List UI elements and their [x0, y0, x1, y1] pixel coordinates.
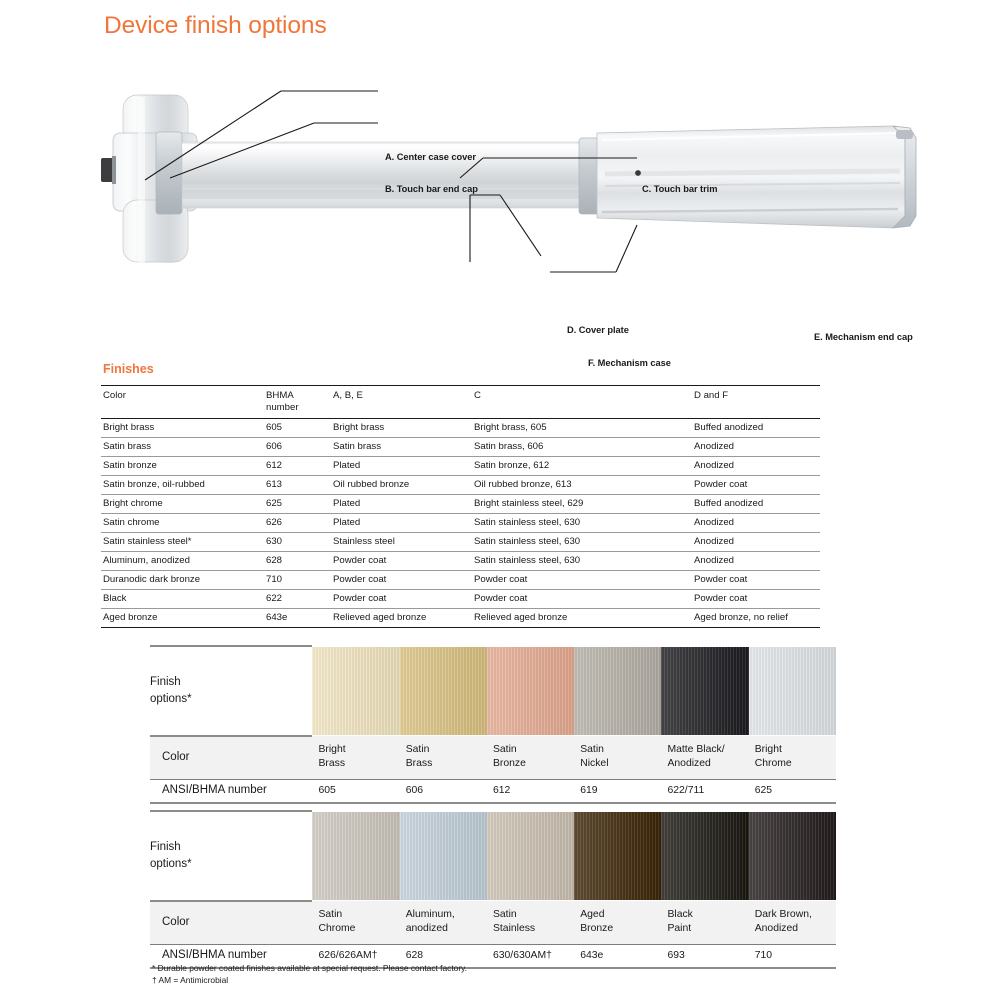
- swatch-color-name-line1: Bright: [755, 743, 834, 757]
- cell-c: Satin stainless steel, 630: [472, 513, 692, 532]
- cell-color: Satin bronze, oil-rubbed: [101, 475, 264, 494]
- table-row: Satin bronze 612 Plated Satin bronze, 61…: [101, 456, 820, 475]
- finish-options-label: Finish options*: [150, 646, 312, 736]
- swatch-chip: [312, 647, 399, 735]
- swatch-color-name-line1: Black: [667, 908, 746, 922]
- swatch-row: Finish options*: [150, 646, 836, 736]
- table-row: Duranodic dark bronze 710 Powder coat Po…: [101, 570, 820, 589]
- swatch-cell-aluminum-anodized: [400, 811, 487, 901]
- cell-bhma: 630: [264, 532, 331, 551]
- swatch-color-name: SatinNickel: [574, 736, 661, 779]
- cell-df: Powder coat: [692, 475, 820, 494]
- page-title: Device finish options: [104, 12, 327, 40]
- finish-options-line2: options*: [150, 858, 192, 870]
- swatch-color-name-line2: Bronze: [493, 757, 572, 771]
- cell-df: Anodized: [692, 532, 820, 551]
- cell-bhma: 628: [264, 551, 331, 570]
- swatch-cell-satin-stainless: [487, 811, 574, 901]
- swatch-chip: [400, 812, 487, 900]
- device-illustration: A. Center case cover B. Touch bar end ca…: [100, 70, 920, 315]
- cell-c: Powder coat: [472, 589, 692, 608]
- cell-color: Aged bronze: [101, 608, 264, 627]
- table-row: Bright brass 605 Bright brass Bright bra…: [101, 418, 820, 437]
- swatch-chip: [400, 647, 487, 735]
- finish-options-line1: Finish: [150, 676, 181, 688]
- document-page: Device finish options: [0, 0, 1000, 1000]
- cell-color: Satin chrome: [101, 513, 264, 532]
- swatch-chip: [574, 812, 661, 900]
- swatch-chip: [487, 812, 574, 900]
- swatch-color-name-line2: Brass: [406, 757, 485, 771]
- table-row: Satin stainless steel* 630 Stainless ste…: [101, 532, 820, 551]
- swatch-ansi-number: 619: [574, 779, 661, 803]
- swatch-color-name-line1: Satin: [580, 743, 659, 757]
- finish-options-label: Finish options*: [150, 811, 312, 901]
- swatch-ansi-row-label: ANSI/BHMA number: [150, 779, 312, 803]
- cell-abe: Relieved aged bronze: [331, 608, 472, 627]
- swatch-cell-satin-bronze: [487, 646, 574, 736]
- swatch-ansi-number: 710: [749, 944, 836, 968]
- cell-c: Satin bronze, 612: [472, 456, 692, 475]
- swatch-ansi-number: 612: [487, 779, 574, 803]
- cell-abe: Satin brass: [331, 437, 472, 456]
- finishes-col-bhma-line2: number: [266, 402, 299, 413]
- swatch-color-name-line2: Chrome: [755, 757, 834, 771]
- finishes-col-color: Color: [101, 386, 264, 419]
- cell-color: Satin bronze: [101, 456, 264, 475]
- swatch-chip: [749, 647, 836, 735]
- cover-plate-collar: [579, 138, 599, 214]
- cell-bhma: 605: [264, 418, 331, 437]
- swatch-cell-satin-chrome: [312, 811, 399, 901]
- swatch-color-name-line2: anodized: [406, 922, 485, 936]
- callout-label-e: E. Mechanism end cap: [814, 332, 913, 342]
- swatch-color-name-line2: Stainless: [493, 922, 572, 936]
- finishes-col-bhma-line1: BHMA: [266, 390, 294, 401]
- cell-bhma: 613: [264, 475, 331, 494]
- swatch-color-row: Color BrightBrass SatinBrass SatinBronze…: [150, 736, 836, 779]
- swatch-color-row-label: Color: [150, 901, 312, 944]
- finish-options-table-2: Finish options* Color SatinChrome Alumin…: [150, 810, 836, 969]
- finishes-col-df: D and F: [692, 386, 820, 419]
- swatch-color-name: SatinBrass: [400, 736, 487, 779]
- swatch-color-name-line1: Bright: [318, 743, 397, 757]
- finishes-heading: Finishes: [103, 362, 154, 376]
- swatch-ansi-number: 630/630AM†: [487, 944, 574, 968]
- touch-bar-end-cap-graphic: [156, 132, 182, 214]
- swatch-cell-aged-bronze: [574, 811, 661, 901]
- swatch-ansi-row: ANSI/BHMA number 605 606 612 619 622/711…: [150, 779, 836, 803]
- cell-c: Bright stainless steel, 629: [472, 494, 692, 513]
- swatch-ansi-number: 693: [661, 944, 748, 968]
- table-row: Aged bronze 643e Relieved aged bronze Re…: [101, 608, 820, 627]
- cell-abe: Powder coat: [331, 589, 472, 608]
- swatch-color-name: BrightChrome: [749, 736, 836, 779]
- swatch-color-name: AgedBronze: [574, 901, 661, 944]
- cell-bhma: 626: [264, 513, 331, 532]
- cell-df: Anodized: [692, 456, 820, 475]
- swatch-color-name-line1: Aluminum,: [406, 908, 485, 922]
- cell-color: Bright chrome: [101, 494, 264, 513]
- cell-color: Satin brass: [101, 437, 264, 456]
- swatch-chip: [574, 647, 661, 735]
- swatch-ansi-number: 606: [400, 779, 487, 803]
- callout-label-b: B. Touch bar end cap: [385, 184, 478, 194]
- finishes-col-abe: A, B, E: [331, 386, 472, 419]
- exit-device-drawing: [100, 70, 920, 315]
- cell-df: Aged bronze, no relief: [692, 608, 820, 627]
- swatch-color-name-line1: Satin: [493, 743, 572, 757]
- swatch-ansi-number: 625: [749, 779, 836, 803]
- cell-bhma: 625: [264, 494, 331, 513]
- cell-c: Relieved aged bronze: [472, 608, 692, 627]
- cell-df: Buffed anodized: [692, 418, 820, 437]
- cell-abe: Powder coat: [331, 551, 472, 570]
- cell-c: Satin brass, 606: [472, 437, 692, 456]
- swatch-color-name-line1: Dark Brown,: [755, 908, 834, 922]
- swatch-ansi-number: 622/711: [661, 779, 748, 803]
- cell-color: Bright brass: [101, 418, 264, 437]
- finishes-col-c: C: [472, 386, 692, 419]
- cell-df: Buffed anodized: [692, 494, 820, 513]
- cell-df: Anodized: [692, 551, 820, 570]
- footnote-2: † AM = Antimicrobial: [152, 975, 467, 987]
- swatch-ansi-number: 605: [312, 779, 399, 803]
- cell-color: Black: [101, 589, 264, 608]
- finishes-table-body: Bright brass 605 Bright brass Bright bra…: [101, 418, 820, 627]
- finishes-header-row: Color BHMA number A, B, E C D and F: [101, 386, 820, 419]
- swatch-cell-dark-brown-anodized: [749, 811, 836, 901]
- swatch-ansi-number: 643e: [574, 944, 661, 968]
- cell-abe: Plated: [331, 513, 472, 532]
- finishes-table: Color BHMA number A, B, E C D and F Brig…: [101, 385, 820, 628]
- swatch-cell-satin-brass: [400, 646, 487, 736]
- swatch-cell-bright-brass: [312, 646, 399, 736]
- swatch-color-name-line1: Aged: [580, 908, 659, 922]
- swatch-color-name: Dark Brown,Anodized: [749, 901, 836, 944]
- footnotes: * Durable powder coated finishes availab…: [152, 963, 467, 987]
- swatch-chip: [661, 647, 748, 735]
- footnote-1: * Durable powder coated finishes availab…: [152, 963, 467, 975]
- finishes-table-head: Color BHMA number A, B, E C D and F: [101, 386, 820, 419]
- cell-bhma: 622: [264, 589, 331, 608]
- swatch-color-name-line2: Paint: [667, 922, 746, 936]
- cell-bhma: 612: [264, 456, 331, 475]
- swatch-cell-matte-black: [661, 646, 748, 736]
- cell-abe: Plated: [331, 494, 472, 513]
- table-row: Satin brass 606 Satin brass Satin brass,…: [101, 437, 820, 456]
- swatch-cell-bright-chrome: [749, 646, 836, 736]
- cell-c: Satin stainless steel, 630: [472, 551, 692, 570]
- finishes-col-bhma: BHMA number: [264, 386, 331, 419]
- cell-abe: Plated: [331, 456, 472, 475]
- swatch-color-name: SatinChrome: [312, 901, 399, 944]
- cell-abe: Stainless steel: [331, 532, 472, 551]
- cell-abe: Powder coat: [331, 570, 472, 589]
- cell-df: Anodized: [692, 513, 820, 532]
- cell-color: Duranodic dark bronze: [101, 570, 264, 589]
- swatch-color-name-line2: Brass: [318, 757, 397, 771]
- screw-hole: [635, 170, 641, 176]
- swatch-color-row-label: Color: [150, 736, 312, 779]
- cell-df: Powder coat: [692, 570, 820, 589]
- swatch-color-name: Matte Black/Anodized: [661, 736, 748, 779]
- callout-label-c: C. Touch bar trim: [642, 184, 717, 194]
- cell-c: Satin stainless steel, 630: [472, 532, 692, 551]
- swatch-color-name-line1: Satin: [406, 743, 485, 757]
- table-row: Black 622 Powder coat Powder coat Powder…: [101, 589, 820, 608]
- swatch-color-name-line2: Anodized: [667, 757, 746, 771]
- finish-options-table-1: Finish options* Color BrightBrass SatinB…: [150, 645, 836, 804]
- table-row: Aluminum, anodized 628 Powder coat Satin…: [101, 551, 820, 570]
- cell-c: Oil rubbed bronze, 613: [472, 475, 692, 494]
- swatch-color-row: Color SatinChrome Aluminum,anodized Sati…: [150, 901, 836, 944]
- cell-abe: Oil rubbed bronze: [331, 475, 472, 494]
- swatch-cell-black-paint: [661, 811, 748, 901]
- cell-color: Aluminum, anodized: [101, 551, 264, 570]
- swatch-color-name-line1: Matte Black/: [667, 743, 746, 757]
- cell-color: Satin stainless steel*: [101, 532, 264, 551]
- cell-c: Powder coat: [472, 570, 692, 589]
- callout-label-a: A. Center case cover: [385, 152, 476, 162]
- touch-bar-graphic: [182, 142, 585, 208]
- swatch-chip: [487, 647, 574, 735]
- swatch-color-name-line2: Chrome: [318, 922, 397, 936]
- table-row: Satin bronze, oil-rubbed 613 Oil rubbed …: [101, 475, 820, 494]
- cell-df: Anodized: [692, 437, 820, 456]
- callout-label-d: D. Cover plate: [567, 325, 629, 335]
- swatch-color-name-line2: Anodized: [755, 922, 834, 936]
- swatch-color-name: BrightBrass: [312, 736, 399, 779]
- swatch-chip: [749, 812, 836, 900]
- table-row: Satin chrome 626 Plated Satin stainless …: [101, 513, 820, 532]
- swatch-chip: [312, 812, 399, 900]
- callout-label-f: F. Mechanism case: [588, 358, 671, 368]
- finish-options-line1: Finish: [150, 841, 181, 853]
- cell-c: Bright brass, 605: [472, 418, 692, 437]
- cell-bhma: 606: [264, 437, 331, 456]
- finish-options-line2: options*: [150, 693, 192, 705]
- cell-abe: Bright brass: [331, 418, 472, 437]
- swatch-row: Finish options*: [150, 811, 836, 901]
- swatch-color-name: SatinStainless: [487, 901, 574, 944]
- swatch-color-name-line2: Bronze: [580, 922, 659, 936]
- swatch-color-name: BlackPaint: [661, 901, 748, 944]
- swatch-chip: [661, 812, 748, 900]
- cell-bhma: 710: [264, 570, 331, 589]
- table-row: Bright chrome 625 Plated Bright stainles…: [101, 494, 820, 513]
- swatch-color-name: SatinBronze: [487, 736, 574, 779]
- cover-plate-graphic: [597, 126, 905, 228]
- cell-df: Powder coat: [692, 589, 820, 608]
- cell-bhma: 643e: [264, 608, 331, 627]
- swatch-cell-satin-nickel: [574, 646, 661, 736]
- swatch-color-name: Aluminum,anodized: [400, 901, 487, 944]
- swatch-color-name-line1: Satin: [318, 908, 397, 922]
- swatch-color-name-line1: Satin: [493, 908, 572, 922]
- swatch-color-name-line2: Nickel: [580, 757, 659, 771]
